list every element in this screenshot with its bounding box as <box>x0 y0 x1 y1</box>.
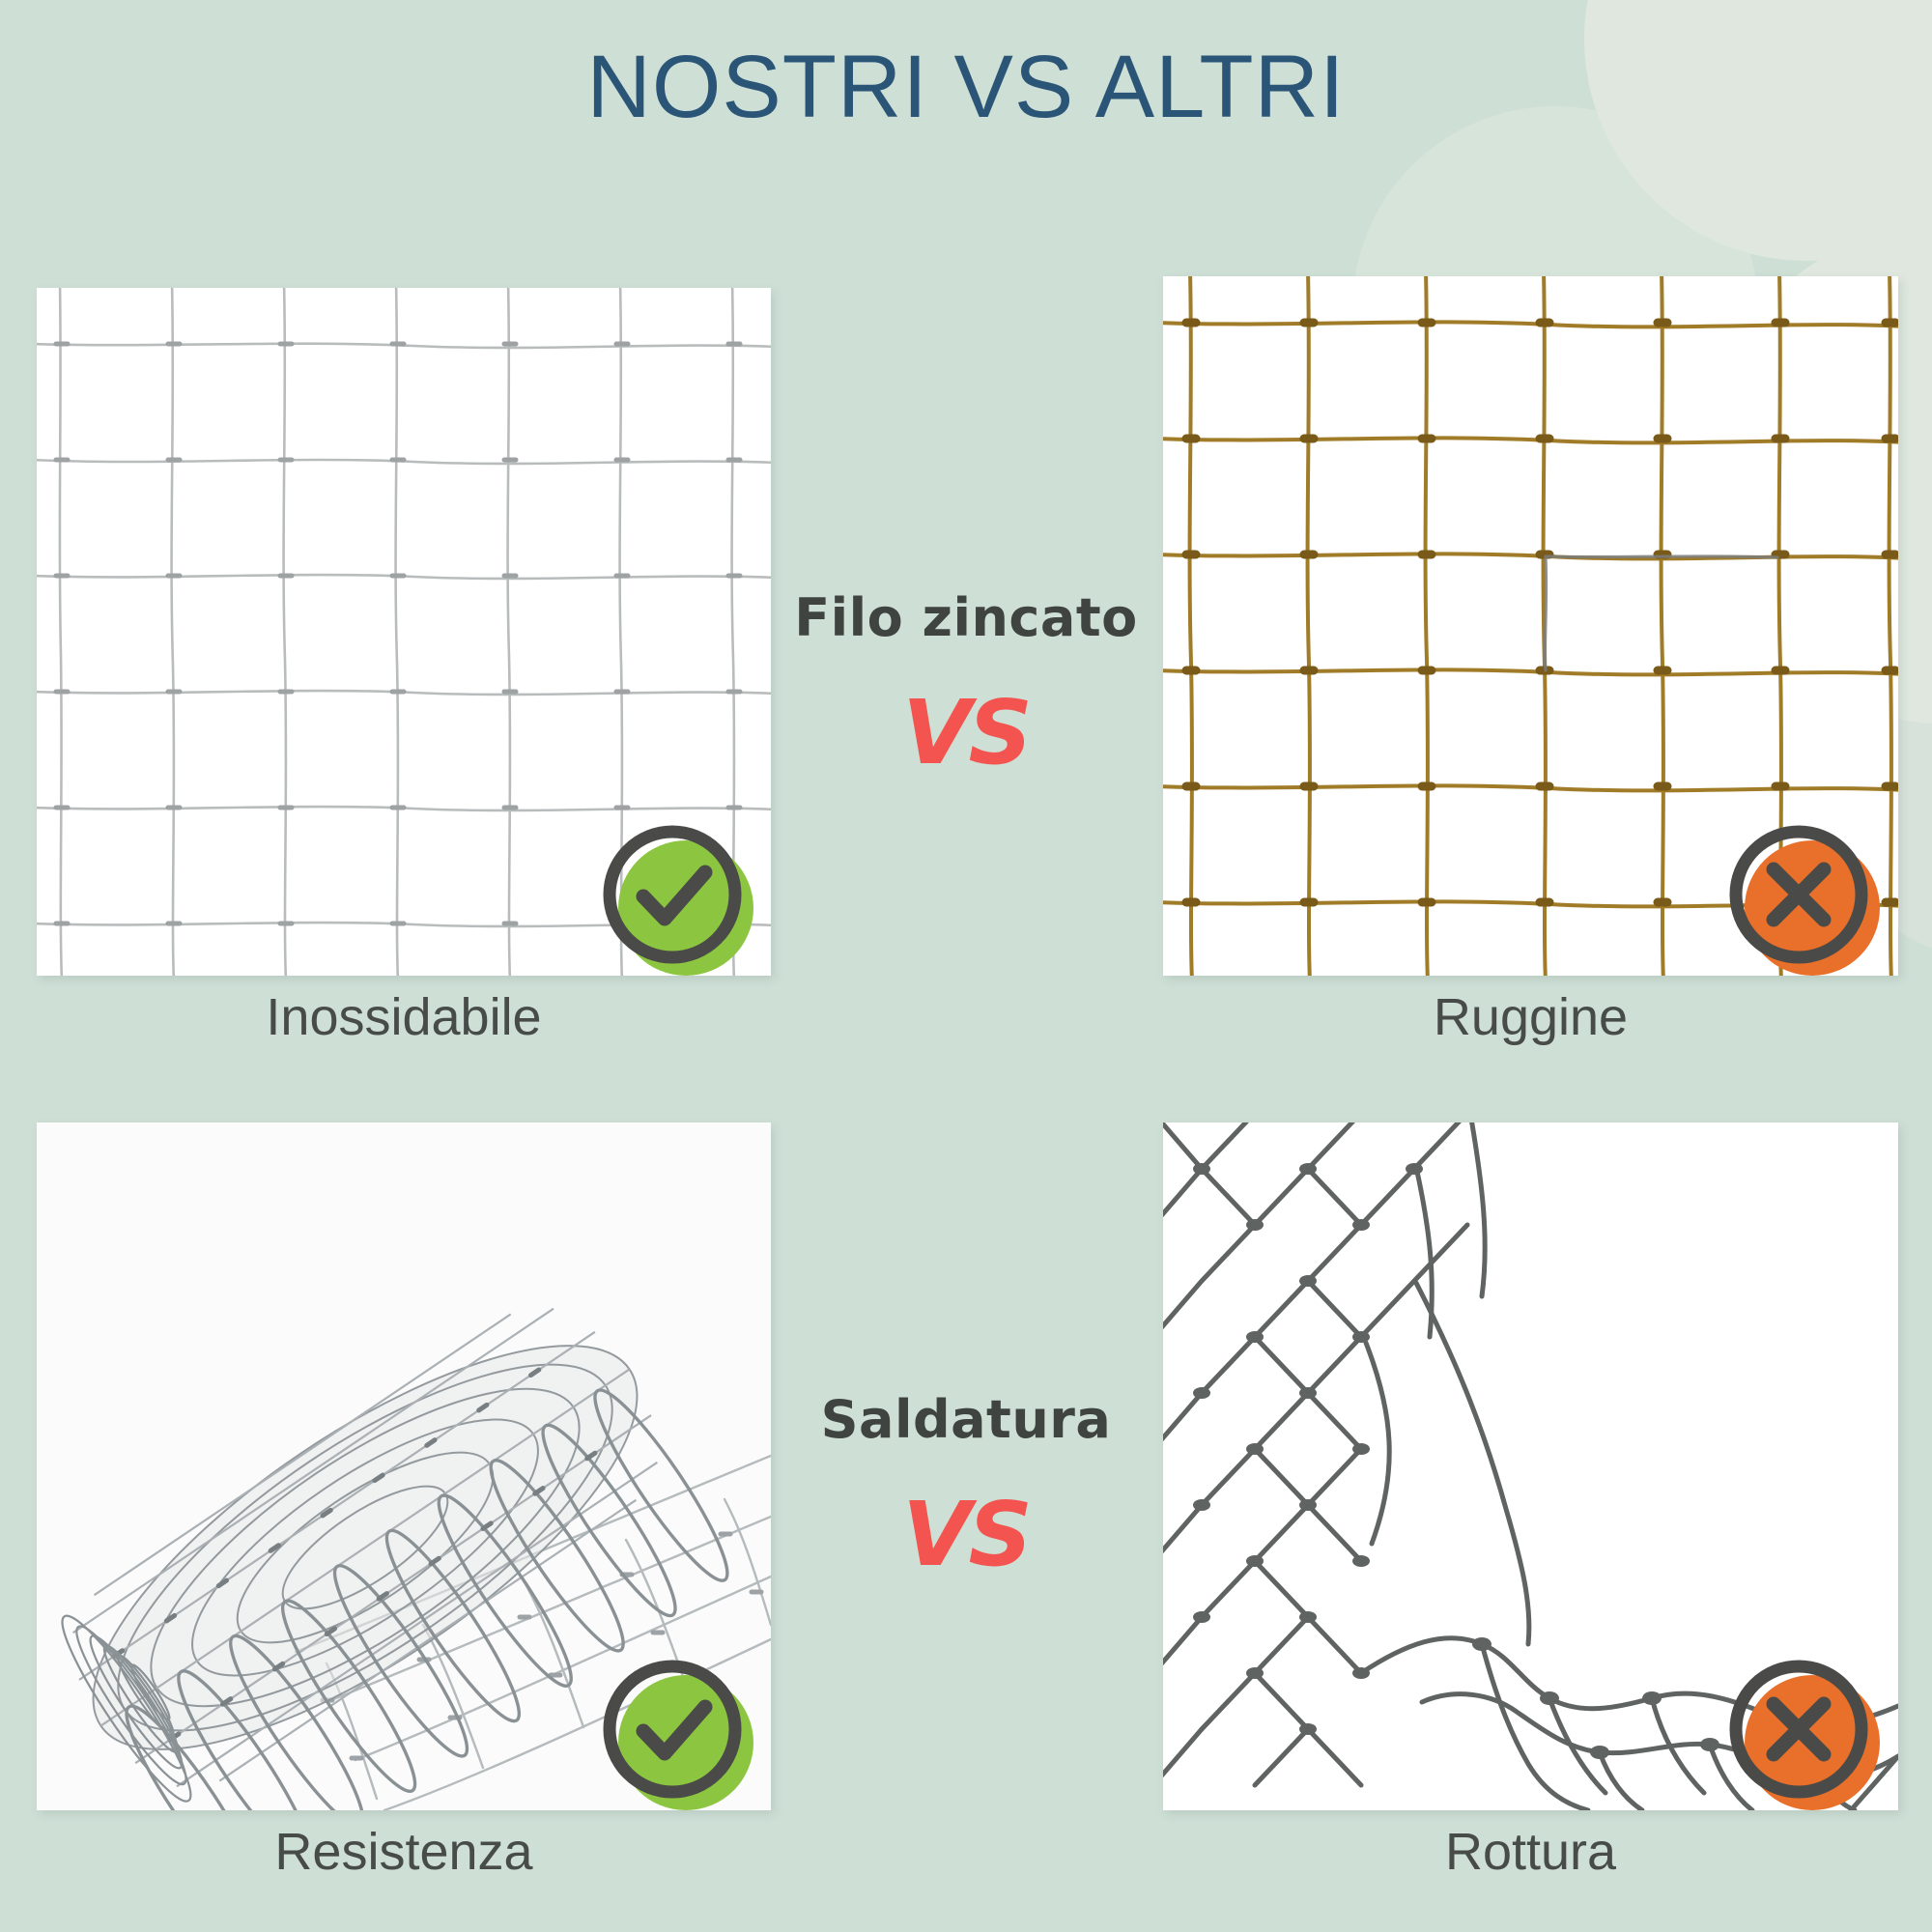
caption-rottura: Rottura <box>1163 1822 1898 1882</box>
feature-label-saldatura: Saldatura <box>763 1389 1169 1450</box>
vs-mark: VS <box>763 1483 1169 1586</box>
check-badge <box>597 819 761 983</box>
page-title: NOSTRI VS ALTRI <box>0 37 1932 138</box>
comparison-group-filo-zincato: Filo zincato VS <box>763 587 1169 784</box>
cross-badge <box>1723 819 1888 983</box>
caption-resistenza: Resistenza <box>37 1822 771 1882</box>
vs-mark: VS <box>763 681 1169 784</box>
feature-label-filo-zincato: Filo zincato <box>763 587 1169 648</box>
caption-ruggine: Ruggine <box>1163 987 1898 1047</box>
comparison-group-saldatura: Saldatura VS <box>763 1389 1169 1586</box>
cross-badge <box>1723 1654 1888 1818</box>
caption-inossidabile: Inossidabile <box>37 987 771 1047</box>
check-badge <box>597 1654 761 1818</box>
